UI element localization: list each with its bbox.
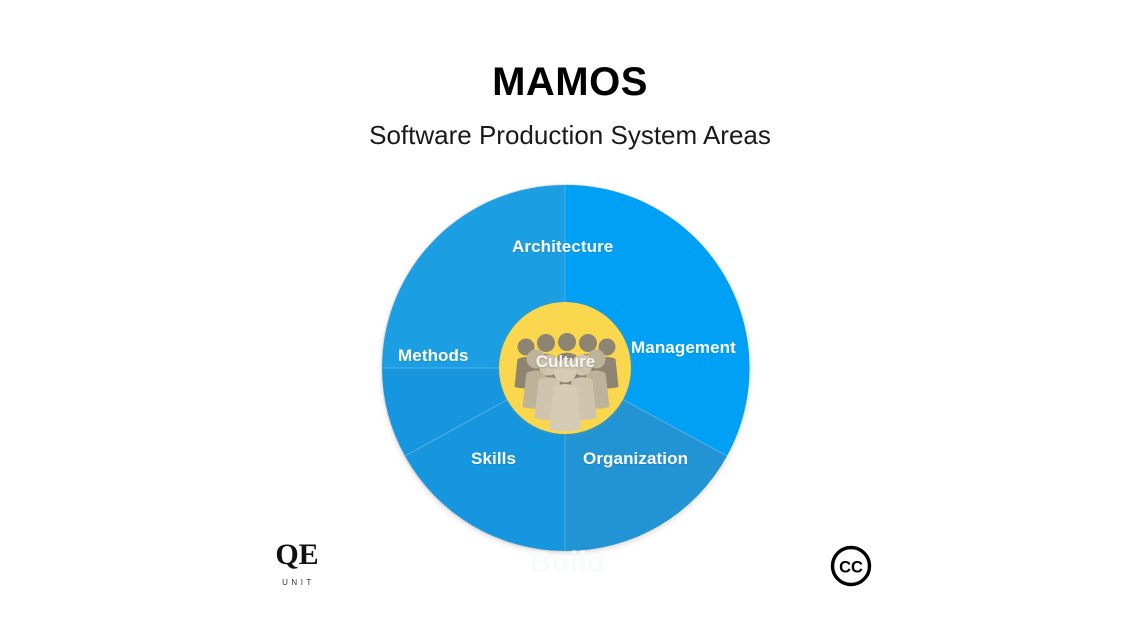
slide-canvas: MAMOS Software Production System Areas xyxy=(0,0,1140,641)
page-subtitle: Software Production System Areas xyxy=(0,120,1140,151)
page-title: MAMOS xyxy=(0,60,1140,104)
qe-unit-logo-mark: QE xyxy=(262,540,332,570)
qe-unit-logo: QE UNIT xyxy=(262,540,332,592)
creative-commons-badge: CC xyxy=(830,545,872,587)
ghost-word-build: Build xyxy=(0,546,1135,580)
creative-commons-badge-text: CC xyxy=(839,559,863,577)
segment-label-organization[interactable]: Organization xyxy=(583,449,688,469)
creative-commons-icon: CC xyxy=(830,545,872,587)
segment-label-skills[interactable]: Skills xyxy=(471,449,516,469)
qe-unit-logo-wordmark: UNIT xyxy=(262,579,332,587)
center-label-culture: Culture xyxy=(0,352,1131,372)
segment-label-architecture[interactable]: Architecture xyxy=(512,237,613,257)
